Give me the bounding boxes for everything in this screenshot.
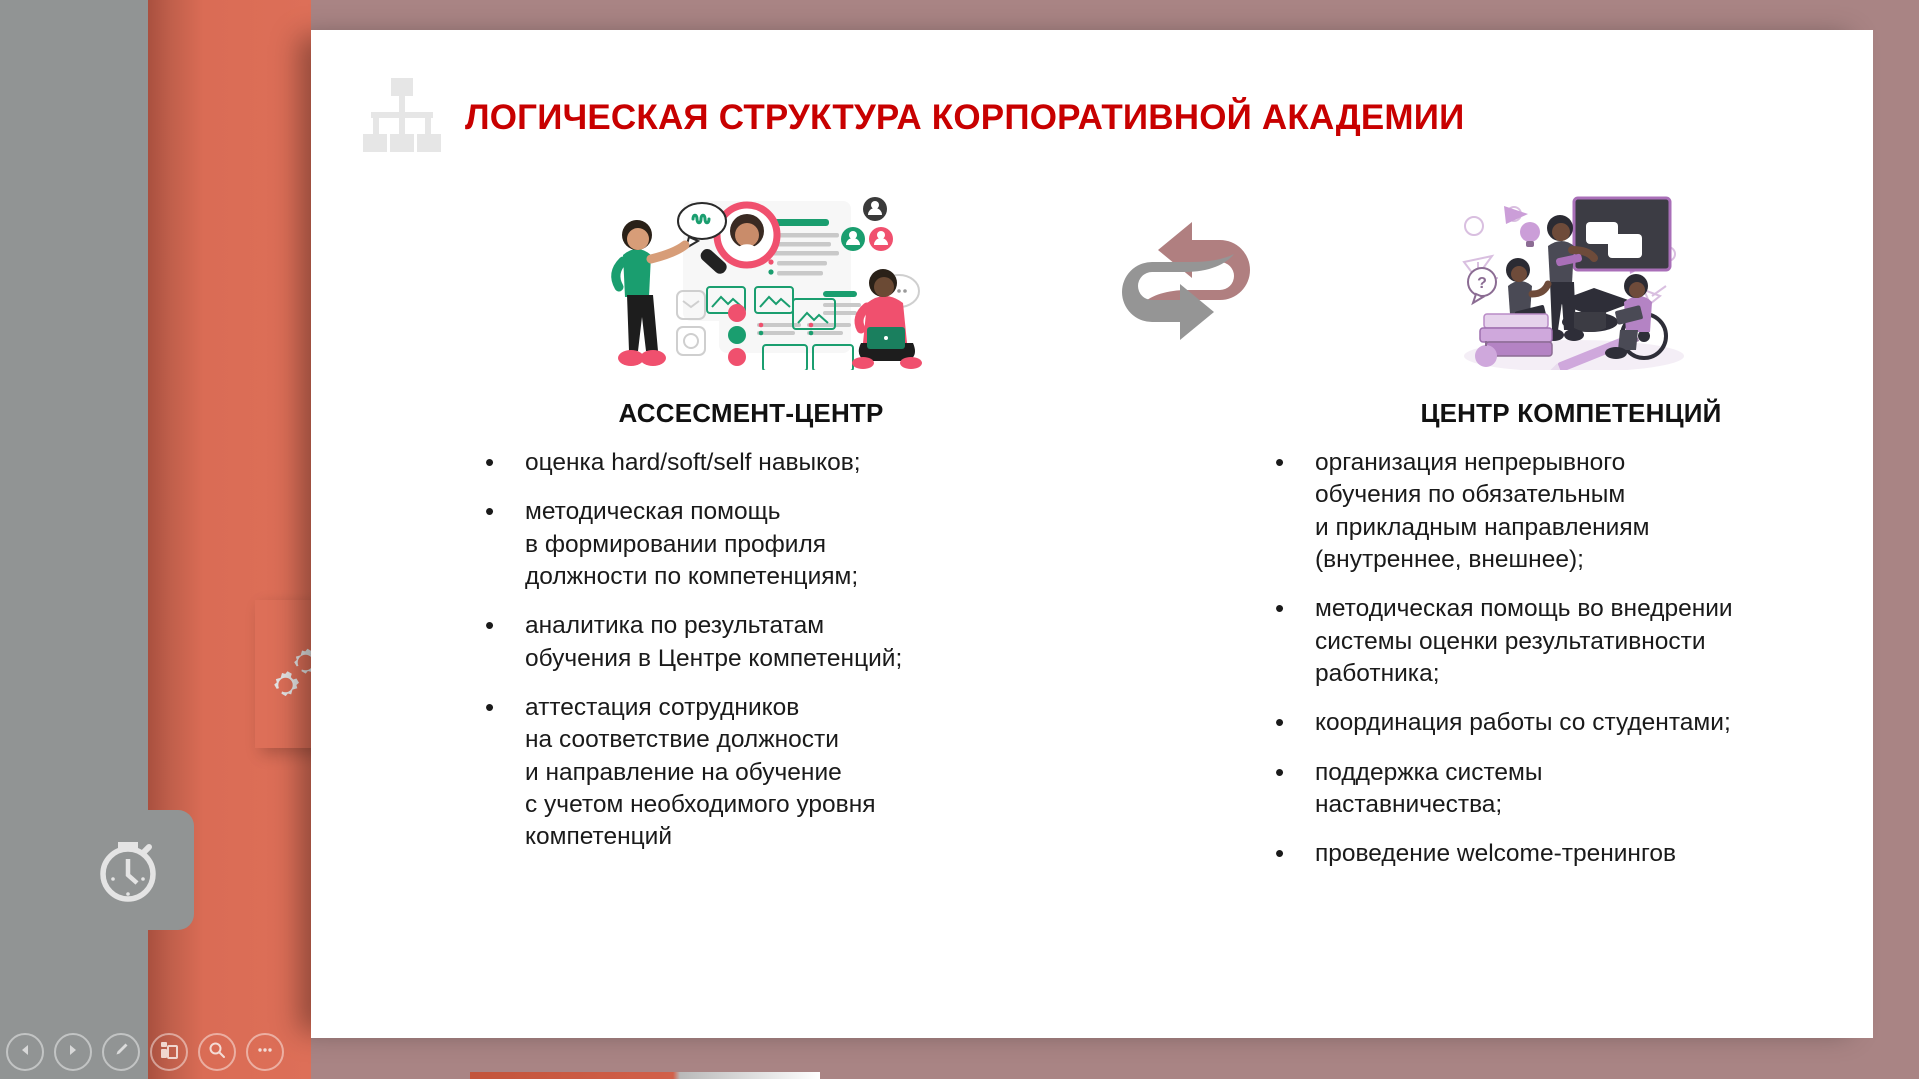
- triangle-left-icon: [18, 1043, 32, 1062]
- magnifier-icon: [208, 1041, 226, 1064]
- svg-text:?: ?: [1477, 275, 1487, 292]
- pen-icon: [112, 1041, 130, 1064]
- education-learning-illustration: ?: [1291, 180, 1851, 370]
- list-item: оценка hard/soft/self навыков;: [471, 447, 1081, 479]
- slide-card: ЛОГИЧЕСКАЯ СТРУКТУРА КОРПОРАТИВНОЙ АКАДЕ…: [311, 30, 1873, 1038]
- next-slide-peek: [470, 1072, 820, 1079]
- list-item: аналитика по результатам обучения в Цент…: [471, 610, 1081, 675]
- zoom-button[interactable]: [198, 1033, 236, 1071]
- hierarchy-icon: [361, 78, 441, 157]
- triangle-right-icon: [66, 1043, 80, 1062]
- stopwatch-card: [62, 810, 194, 930]
- list-item: методическая помощь в формировании профи…: [471, 496, 1081, 593]
- list-item: поддержка системы наставничества;: [1261, 757, 1881, 822]
- slideshow-toolbar: [6, 1033, 284, 1071]
- pen-tool-button[interactable]: [102, 1033, 140, 1071]
- slide-columns: АССЕСМЕНТ-ЦЕНТР оценка hard/soft/self на…: [311, 180, 1873, 888]
- slide-overview-button[interactable]: [150, 1033, 188, 1071]
- team-assessment-illustration: [421, 180, 1081, 370]
- previous-slide-button[interactable]: [6, 1033, 44, 1071]
- bullet-list-assessment: оценка hard/soft/self навыков; методичес…: [471, 447, 1081, 854]
- grid-slides-icon: [160, 1041, 178, 1064]
- slide-title-row: ЛОГИЧЕСКАЯ СТРУКТУРА КОРПОРАТИВНОЙ АКАДЕ…: [361, 78, 1464, 157]
- column-heading-competence: ЦЕНТР КОМПЕТЕНЦИЙ: [1291, 398, 1851, 429]
- column-assessment-center: АССЕСМЕНТ-ЦЕНТР оценка hard/soft/self на…: [421, 180, 1081, 888]
- presentation-stage: ЛОГИЧЕСКАЯ СТРУКТУРА КОРПОРАТИВНОЙ АКАДЕ…: [0, 0, 1919, 1079]
- next-slide-button[interactable]: [54, 1033, 92, 1071]
- list-item: координация работы со студентами;: [1261, 707, 1881, 739]
- column-heading-assessment: АССЕСМЕНТ-ЦЕНТР: [421, 398, 1081, 429]
- list-item: методическая помощь во внедрении системы…: [1261, 593, 1881, 690]
- column-connector: [1081, 180, 1291, 888]
- column-competence-center: ?: [1291, 180, 1851, 888]
- ellipsis-icon: [256, 1041, 274, 1064]
- more-options-button[interactable]: [246, 1033, 284, 1071]
- list-item: аттестация сотрудников на соответствие д…: [471, 692, 1081, 854]
- bullet-list-competence: организация непрерывного обучения по обя…: [1261, 447, 1881, 871]
- stopwatch-icon: [85, 825, 171, 916]
- cyclic-exchange-arrows: [1081, 180, 1291, 376]
- list-item: проведение welcome-тренингов: [1261, 838, 1881, 870]
- list-item: организация непрерывного обучения по обя…: [1261, 447, 1881, 576]
- page-title: ЛОГИЧЕСКАЯ СТРУКТУРА КОРПОРАТИВНОЙ АКАДЕ…: [465, 98, 1464, 138]
